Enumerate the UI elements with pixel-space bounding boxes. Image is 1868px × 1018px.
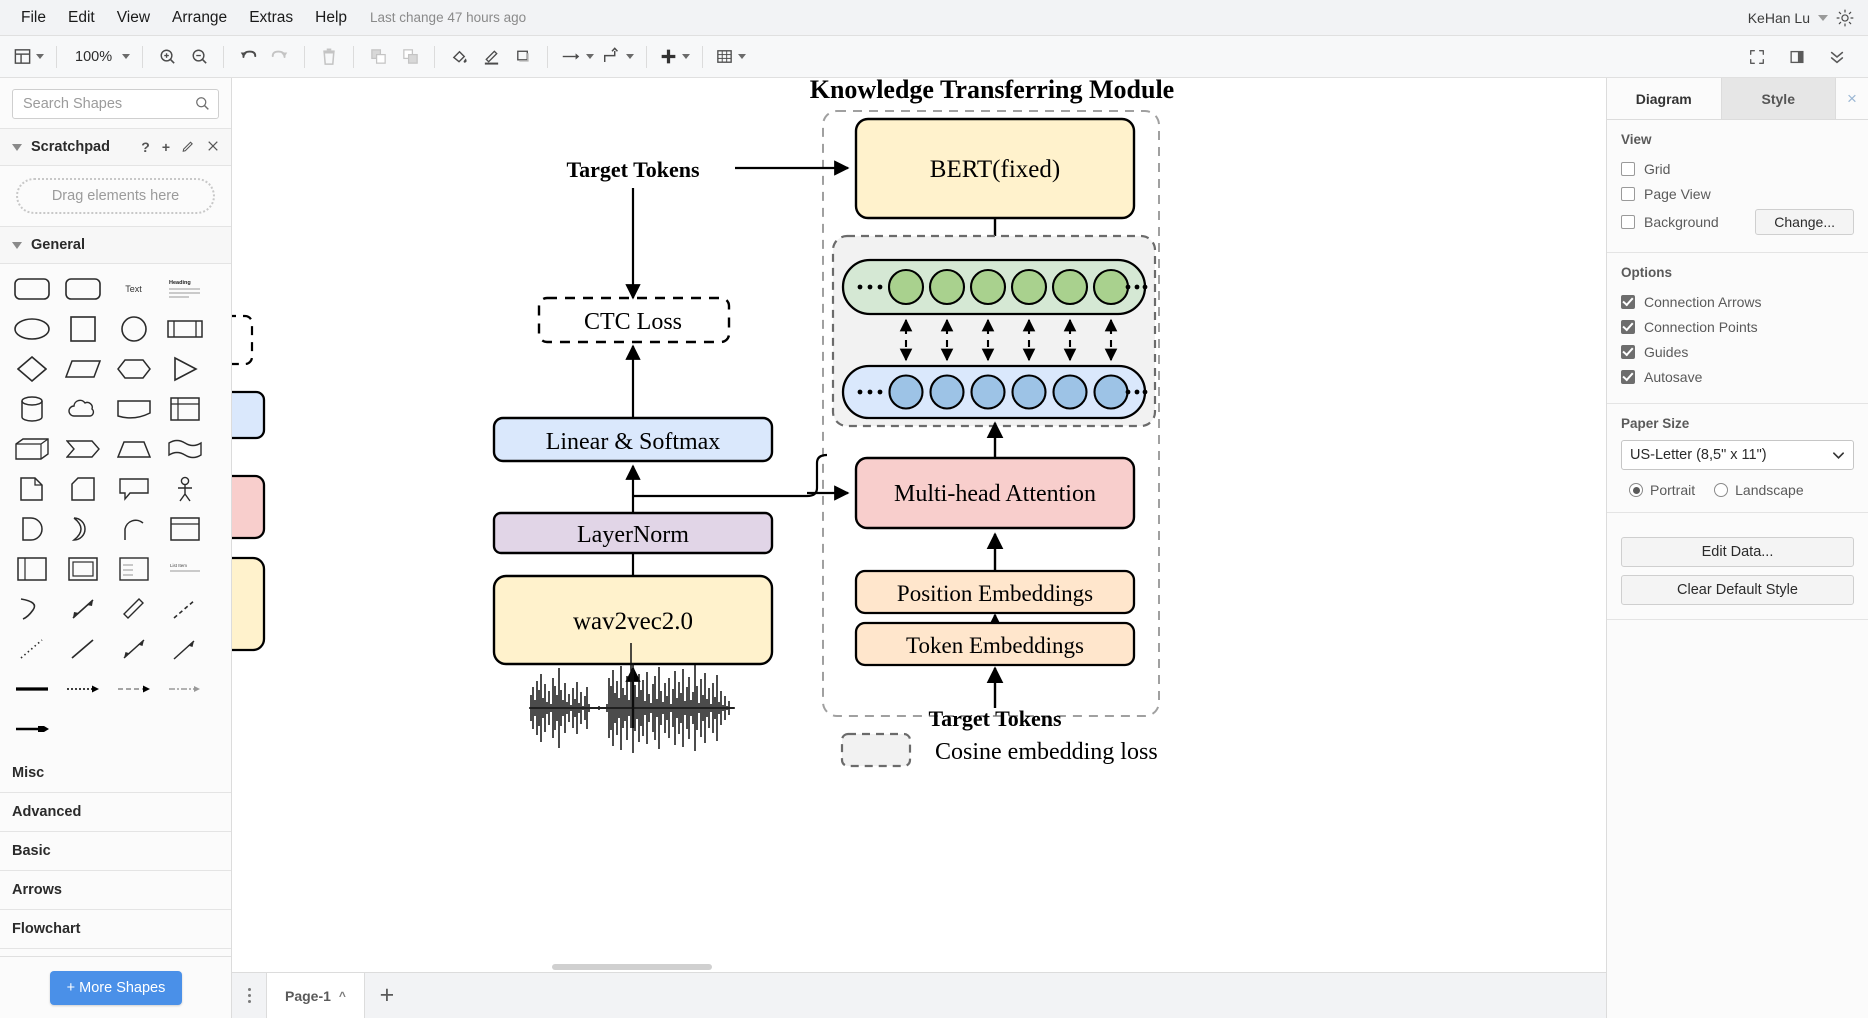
toolbar-divider — [702, 46, 703, 68]
format-panel-tabs: Diagram Style × — [1607, 78, 1868, 120]
shape-list[interactable] — [114, 554, 153, 584]
sidebar-category-label: Misc — [12, 765, 44, 781]
tab-diagram[interactable]: Diagram — [1607, 78, 1722, 119]
help-icon[interactable]: ? — [141, 139, 150, 155]
shape-hexagon[interactable] — [114, 354, 153, 384]
offscreen-multihead-partial[interactable] — [232, 476, 264, 538]
checkbox-row-grid[interactable]: Grid — [1621, 156, 1854, 181]
shape-rounded-rect[interactable] — [12, 274, 51, 304]
shape-cylinder[interactable] — [12, 394, 51, 424]
offscreen-ctc-loss-partial[interactable]: ss — [232, 316, 252, 364]
checkbox-row-connection-arrows[interactable]: Connection Arrows — [1621, 289, 1854, 314]
more-shapes-label: More Shapes — [79, 980, 165, 996]
menu-help[interactable]: Help — [304, 5, 358, 31]
sidebar-category-label: Advanced — [12, 804, 81, 820]
menu-extras[interactable]: Extras — [238, 5, 304, 31]
send-to-back-icon[interactable] — [395, 42, 425, 72]
shape-actor[interactable] — [165, 474, 204, 504]
actions-section: Edit Data... Clear Default Style — [1607, 513, 1868, 620]
tab-style[interactable]: Style — [1722, 78, 1837, 119]
target-tokens-bottom-label: Target Tokens — [928, 706, 1062, 731]
sidebar-category-arrows[interactable]: Arrows — [0, 871, 231, 910]
chevron-down-icon[interactable] — [12, 242, 22, 249]
table-icon[interactable] — [712, 42, 749, 72]
add-page-button[interactable]: + — [365, 973, 409, 1018]
format-panel-icon[interactable] — [1782, 42, 1812, 72]
shape-text[interactable]: Text — [114, 274, 153, 304]
shape-note[interactable] — [114, 394, 153, 424]
connection-arrow-icon[interactable] — [557, 42, 597, 72]
menubar: File Edit View Arrange Extras Help Last … — [0, 0, 1868, 36]
scratchpad-header[interactable]: Scratchpad ? + — [0, 128, 231, 166]
chevron-up-icon[interactable]: ^ — [339, 989, 346, 1003]
menu-arrange[interactable]: Arrange — [161, 5, 238, 31]
linear-softmax-node[interactable]: Linear & Softmax — [494, 418, 772, 461]
bring-to-front-icon[interactable] — [363, 42, 393, 72]
connection-arrows-label: Connection Arrows — [1644, 294, 1762, 310]
chevron-double-down-icon[interactable] — [1822, 42, 1852, 72]
landscape-radio[interactable] — [1714, 483, 1728, 497]
shape-single-arrow[interactable] — [165, 634, 204, 664]
shape-square[interactable] — [63, 314, 102, 344]
close-icon[interactable]: × — [1836, 78, 1868, 119]
checkbox-row-guides[interactable]: Guides — [1621, 339, 1854, 364]
scratchpad-title: Scratchpad — [31, 139, 110, 155]
background-checkbox[interactable] — [1621, 215, 1635, 229]
shape-step[interactable] — [63, 434, 102, 464]
plus-icon[interactable] — [656, 42, 693, 72]
shape-circle[interactable] — [114, 314, 153, 344]
blue-token-band[interactable] — [843, 366, 1147, 418]
shape-parallelogram[interactable] — [63, 354, 102, 384]
checkbox-row-background[interactable]: Background Change... — [1621, 206, 1854, 238]
checkbox-row-autosave[interactable]: Autosave — [1621, 364, 1854, 389]
blue-dots-right — [1126, 390, 1148, 395]
chevron-down-icon[interactable] — [36, 54, 44, 59]
page-tab-page-1[interactable]: Page-1 ^ — [266, 973, 365, 1018]
toolbar-divider — [353, 46, 354, 68]
fill-color-icon[interactable] — [444, 42, 474, 72]
shape-panel: Scratchpad ? + Drag elements here — [0, 78, 232, 1018]
trash-icon[interactable] — [314, 42, 344, 72]
ctc-loss-node[interactable]: CTC Loss — [539, 298, 729, 342]
shape-line[interactable] — [63, 634, 102, 664]
search-input[interactable] — [23, 96, 190, 112]
drawio-app: File Edit View Arrange Extras Help Last … — [0, 0, 1868, 1018]
shape-container[interactable] — [165, 514, 204, 544]
linear-softmax-label: Linear & Softmax — [546, 429, 721, 455]
shape-delay[interactable] — [12, 514, 51, 544]
target-tokens-left-label: Target Tokens — [566, 157, 700, 182]
more-shapes-bar: + More Shapes — [0, 956, 232, 1018]
shape-list-item[interactable]: List Item — [165, 554, 204, 584]
shape-arrow-dashed[interactable] — [114, 674, 153, 704]
background-label: Background — [1644, 214, 1719, 230]
shape-cloud[interactable] — [63, 394, 102, 424]
shape-callout[interactable] — [114, 474, 153, 504]
paper-size-select[interactable]: US-Letter (8,5" x 11") — [1621, 440, 1854, 470]
close-icon[interactable] — [207, 139, 219, 155]
general-title: General — [31, 237, 85, 253]
chevron-down-icon[interactable] — [586, 54, 594, 59]
shape-dotted-line[interactable] — [12, 634, 51, 664]
menu-edit[interactable]: Edit — [57, 5, 106, 31]
toolbar-divider — [434, 46, 435, 68]
canvas-horizontal-scrollbar[interactable] — [232, 962, 1606, 972]
offscreen-linear-softmax-partial[interactable]: x — [232, 392, 264, 438]
shape-arrow-dotted[interactable] — [63, 674, 102, 704]
grid-label: Grid — [1644, 161, 1670, 177]
search-box[interactable] — [12, 89, 219, 119]
zoom-level-button[interactable]: 100% — [66, 42, 133, 72]
shape-cube[interactable] — [12, 434, 51, 464]
module-title: Knowledge Transferring Module — [810, 78, 1174, 104]
green-dots-right — [1126, 285, 1148, 290]
general-header[interactable]: General — [0, 226, 231, 264]
checkbox-row-connection-points[interactable]: Connection Points — [1621, 314, 1854, 339]
toolbar-divider — [142, 46, 143, 68]
svg-text:List Item: List Item — [170, 563, 187, 568]
shape-frame[interactable] — [63, 554, 102, 584]
page-layout-icon[interactable] — [10, 42, 47, 72]
shape-process[interactable] — [165, 314, 204, 344]
fit-page-icon[interactable] — [1742, 42, 1772, 72]
shape-vertical-container[interactable] — [12, 554, 51, 584]
shape-or[interactable] — [63, 514, 102, 544]
toolbar-right-group — [1742, 42, 1858, 72]
toolbar-divider — [223, 46, 224, 68]
connection-arrows-checkbox[interactable] — [1621, 295, 1635, 309]
shape-arrow-outline[interactable] — [114, 594, 153, 624]
chevron-down-icon[interactable] — [682, 54, 690, 59]
search-icon[interactable] — [195, 96, 210, 116]
shape-curve[interactable] — [12, 594, 51, 624]
shape-internal-storage[interactable] — [165, 394, 204, 424]
toolbar-divider — [304, 46, 305, 68]
position-embeddings-label: Position Embeddings — [897, 581, 1093, 606]
chevron-down-icon[interactable] — [1818, 15, 1828, 21]
token-embeddings-label: Token Embeddings — [906, 633, 1084, 658]
options-section: Options Connection Arrows Connection Poi… — [1607, 253, 1868, 404]
menu-view[interactable]: View — [106, 5, 161, 31]
toolbar: 100% — [0, 36, 1868, 78]
undo-icon[interactable] — [233, 42, 263, 72]
zoom-in-icon[interactable] — [152, 42, 182, 72]
shape-arrow-box-end[interactable] — [12, 714, 51, 744]
line-color-icon[interactable] — [476, 42, 506, 72]
plus-icon: + — [67, 980, 75, 996]
chevron-down-icon[interactable] — [122, 54, 130, 59]
shape-quarter-circle[interactable] — [114, 514, 153, 544]
shape-dashed-line[interactable] — [165, 594, 204, 624]
scratchpad-dropzone[interactable]: Drag elements here — [16, 178, 215, 214]
chevron-down-icon[interactable] — [738, 54, 746, 59]
shape-triangle[interactable] — [165, 354, 204, 384]
paper-size-title: Paper Size — [1621, 416, 1854, 431]
grid-checkbox[interactable] — [1621, 162, 1635, 176]
shape-bidirectional-arrow[interactable] — [63, 594, 102, 624]
menubar-right-group: KeHan Lu — [1748, 9, 1868, 27]
legend-swatch — [842, 734, 910, 766]
connection-points-label: Connection Points — [1644, 319, 1758, 335]
multihead-attention-node[interactable]: Multi-head Attention — [856, 458, 1134, 528]
toolbar-divider — [56, 46, 57, 68]
landscape-label: Landscape — [1735, 482, 1804, 498]
zoom-level-label: 100% — [69, 49, 118, 65]
scratchpad-actions: ? + — [141, 139, 219, 155]
guides-checkbox[interactable] — [1621, 345, 1635, 359]
shape-tape[interactable] — [165, 434, 204, 464]
kebab-menu-icon[interactable] — [232, 988, 266, 1003]
sidebar-category-advanced[interactable]: Advanced — [0, 793, 231, 832]
position-embeddings-node[interactable]: Position Embeddings — [856, 571, 1134, 613]
page-view-checkbox[interactable] — [1621, 187, 1635, 201]
page-tab-label: Page-1 — [285, 988, 331, 1004]
general-shape-grid: Text Heading — [0, 264, 231, 754]
scratchpad-dropzone-label: Drag elements here — [52, 188, 179, 204]
layernorm-node[interactable]: LayerNorm — [494, 513, 772, 553]
sidebar-category-flowchart[interactable]: Flowchart — [0, 910, 231, 949]
layernorm-label: LayerNorm — [577, 522, 689, 548]
sun-icon[interactable] — [1836, 9, 1854, 27]
add-icon[interactable]: + — [162, 139, 170, 155]
view-section-title: View — [1621, 132, 1854, 147]
shape-diamond[interactable] — [12, 354, 51, 384]
shape-textbox[interactable]: Heading — [165, 274, 204, 304]
page-view-label: Page View — [1644, 186, 1711, 202]
search-shapes-wrap — [0, 78, 231, 128]
token-embeddings-node[interactable]: Token Embeddings — [856, 623, 1134, 665]
toolbar-divider — [547, 46, 548, 68]
shape-document[interactable] — [12, 474, 51, 504]
shape-trapezoid[interactable] — [114, 434, 153, 464]
offscreen-wav2vec-partial[interactable] — [232, 558, 264, 650]
multihead-attention-label: Multi-head Attention — [894, 481, 1096, 507]
orientation-row: Portrait Landscape — [1621, 482, 1854, 498]
wav2vec-label: wav2vec2.0 — [573, 608, 693, 635]
shape-card[interactable] — [63, 474, 102, 504]
redo-icon[interactable] — [265, 42, 295, 72]
shape-arrow-dashdot[interactable] — [165, 674, 204, 704]
shape-ellipse[interactable] — [12, 314, 51, 344]
shape-rect[interactable] — [63, 274, 102, 304]
chevron-down-icon[interactable] — [626, 54, 634, 59]
waypoint-icon[interactable] — [599, 42, 637, 72]
wav2vec-node[interactable]: wav2vec2.0 — [494, 576, 772, 664]
sidebar-category-misc[interactable]: Misc — [0, 754, 231, 793]
connection-points-checkbox[interactable] — [1621, 320, 1635, 334]
green-dots-left — [858, 285, 883, 290]
autosave-checkbox[interactable] — [1621, 370, 1635, 384]
more-shapes-button[interactable]: + More Shapes — [50, 971, 183, 1005]
bert-label: BERT(fixed) — [930, 156, 1060, 183]
diagram-svg[interactable]: ss x s Knowledge Transferring Module BER… — [232, 78, 1606, 972]
toolbar-divider — [646, 46, 647, 68]
shape-thick-line[interactable] — [12, 674, 51, 704]
portrait-label: Portrait — [1650, 482, 1695, 498]
sidebar-category-label: Flowchart — [12, 921, 80, 937]
checkbox-row-page-view[interactable]: Page View — [1621, 181, 1854, 206]
paper-size-section: Paper Size US-Letter (8,5" x 11") Portra… — [1607, 404, 1868, 513]
autosave-label: Autosave — [1644, 369, 1702, 385]
portrait-radio[interactable] — [1629, 483, 1643, 497]
legend-label: Cosine embedding loss — [935, 739, 1158, 765]
paper-size-select-wrap: US-Letter (8,5" x 11") — [1621, 440, 1854, 470]
view-section: View Grid Page View Background Change... — [1607, 120, 1868, 253]
ctc-loss-label: CTC Loss — [584, 309, 682, 335]
diagram-canvas[interactable]: ss x s Knowledge Transferring Module BER… — [232, 78, 1606, 972]
bert-node[interactable]: BERT(fixed) — [856, 119, 1134, 218]
sidebar-category-label: Arrows — [12, 882, 62, 898]
options-section-title: Options — [1621, 265, 1854, 280]
scrollbar-thumb[interactable] — [552, 964, 712, 970]
edit-data-button[interactable]: Edit Data... — [1621, 537, 1854, 567]
zoom-out-icon[interactable] — [184, 42, 214, 72]
shape-double-arrow[interactable] — [114, 634, 153, 664]
svg-text:Heading: Heading — [169, 280, 191, 286]
change-background-button[interactable]: Change... — [1755, 209, 1854, 235]
pencil-icon[interactable] — [182, 139, 195, 155]
shadow-icon[interactable] — [508, 42, 538, 72]
format-panel: Diagram Style × View Grid Page View Back… — [1606, 78, 1868, 1018]
clear-default-style-button[interactable]: Clear Default Style — [1621, 575, 1854, 605]
chevron-down-icon[interactable] — [12, 144, 22, 151]
user-name-label[interactable]: KeHan Lu — [1748, 10, 1810, 26]
guides-label: Guides — [1644, 344, 1688, 360]
sidebar-category-basic[interactable]: Basic — [0, 832, 231, 871]
blue-dots-left — [858, 390, 883, 395]
last-change-label: Last change 47 hours ago — [370, 10, 526, 25]
green-token-band[interactable] — [843, 260, 1147, 314]
legend-cosine-embedding-loss[interactable]: Cosine embedding loss — [842, 734, 1158, 766]
sidebar-category-label: Basic — [12, 843, 51, 859]
menu-file[interactable]: File — [10, 5, 57, 31]
